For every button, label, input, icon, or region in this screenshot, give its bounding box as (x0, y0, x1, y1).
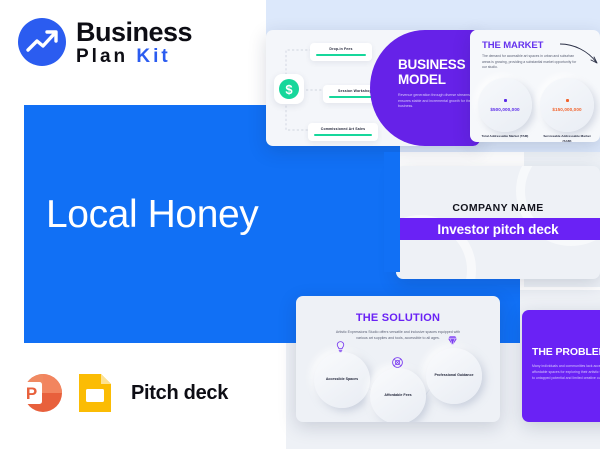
market-metric-caption: Total Addressable Market (TAM) (478, 134, 532, 139)
svg-text:P: P (26, 384, 37, 403)
solution-title: THE SOLUTION (296, 312, 500, 324)
slide-solution[interactable]: THE SOLUTION Artistic Expressions Studio… (296, 296, 500, 422)
brand-plan-text: Plan (76, 46, 128, 67)
slide-market[interactable]: THE MARKET The demand for accessible art… (470, 30, 600, 142)
item-underline (316, 54, 366, 56)
target-circle-icon (391, 356, 404, 369)
pitch-deck-band: Investor pitch deck (396, 218, 600, 240)
market-description: The demand for accessible art spaces in … (482, 54, 580, 71)
diamond-icon (446, 334, 459, 347)
format-badges: P Pitch deck (18, 370, 228, 416)
lightbulb-icon (334, 340, 347, 353)
page-title: Local Honey (46, 195, 346, 236)
format-label: Pitch deck (131, 382, 228, 405)
business-model-description: Revenue generation through diverse strea… (398, 93, 476, 110)
problem-description: Many individuals and communities lack ac… (532, 363, 600, 381)
brand-name-line1: Business (76, 19, 192, 46)
company-name: COMPANY NAME (396, 202, 600, 214)
slide-problem[interactable]: THE PROBLEM Many individuals and communi… (522, 310, 600, 422)
google-slides-icon (73, 370, 119, 416)
solution-node[interactable]: Professional Guidance (426, 348, 482, 404)
growth-arrow-circle-icon (18, 18, 66, 66)
business-model-purple-panel: BUSINESS MODEL Revenue generation throug… (370, 30, 480, 146)
brand-name-line2: Plan Kit (76, 47, 192, 66)
slide-company-title[interactable]: COMPANY NAME Investor pitch deck (396, 166, 600, 279)
brand-kit-text: Kit (136, 46, 170, 67)
business-model-title: BUSINESS MODEL (398, 58, 472, 87)
market-metric-circle[interactable]: $150,000,000 (540, 78, 594, 132)
market-metrics: $500,000,000 $150,000,000 (478, 78, 594, 132)
slide-business-model[interactable]: $ Drop-in Fees Session Workshops Commiss… (266, 30, 480, 146)
metric-dot (504, 99, 507, 102)
market-title: THE MARKET (482, 40, 543, 51)
powerpoint-icon: P (18, 370, 64, 416)
solution-nodes: Accessible Spaces Affordable Fees Profes… (296, 352, 500, 422)
dollar-coin-icon: $ (274, 74, 304, 104)
market-metric-caption: Serviceable Addressable Market (SAM) (540, 134, 594, 142)
brand-logo: Business Plan Kit (18, 18, 192, 66)
dollar-symbol: $ (279, 79, 299, 99)
metric-dot (566, 99, 569, 102)
poster-canvas: Local Honey Business Plan Kit $ Drop-in … (0, 0, 600, 449)
business-model-item[interactable]: Drop-in Fees (310, 43, 372, 61)
market-metric-circle[interactable]: $500,000,000 (478, 78, 532, 132)
pitch-deck-subtitle: Investor pitch deck (437, 222, 558, 237)
solution-node[interactable]: Affordable Fees (370, 368, 426, 422)
problem-title: THE PROBLEM (532, 346, 600, 358)
hero-blue-edge (384, 152, 400, 272)
business-model-item[interactable]: Commissioned Art Sales (308, 123, 378, 141)
solution-node[interactable]: Accessible Spaces (314, 352, 370, 408)
item-underline (314, 134, 372, 136)
